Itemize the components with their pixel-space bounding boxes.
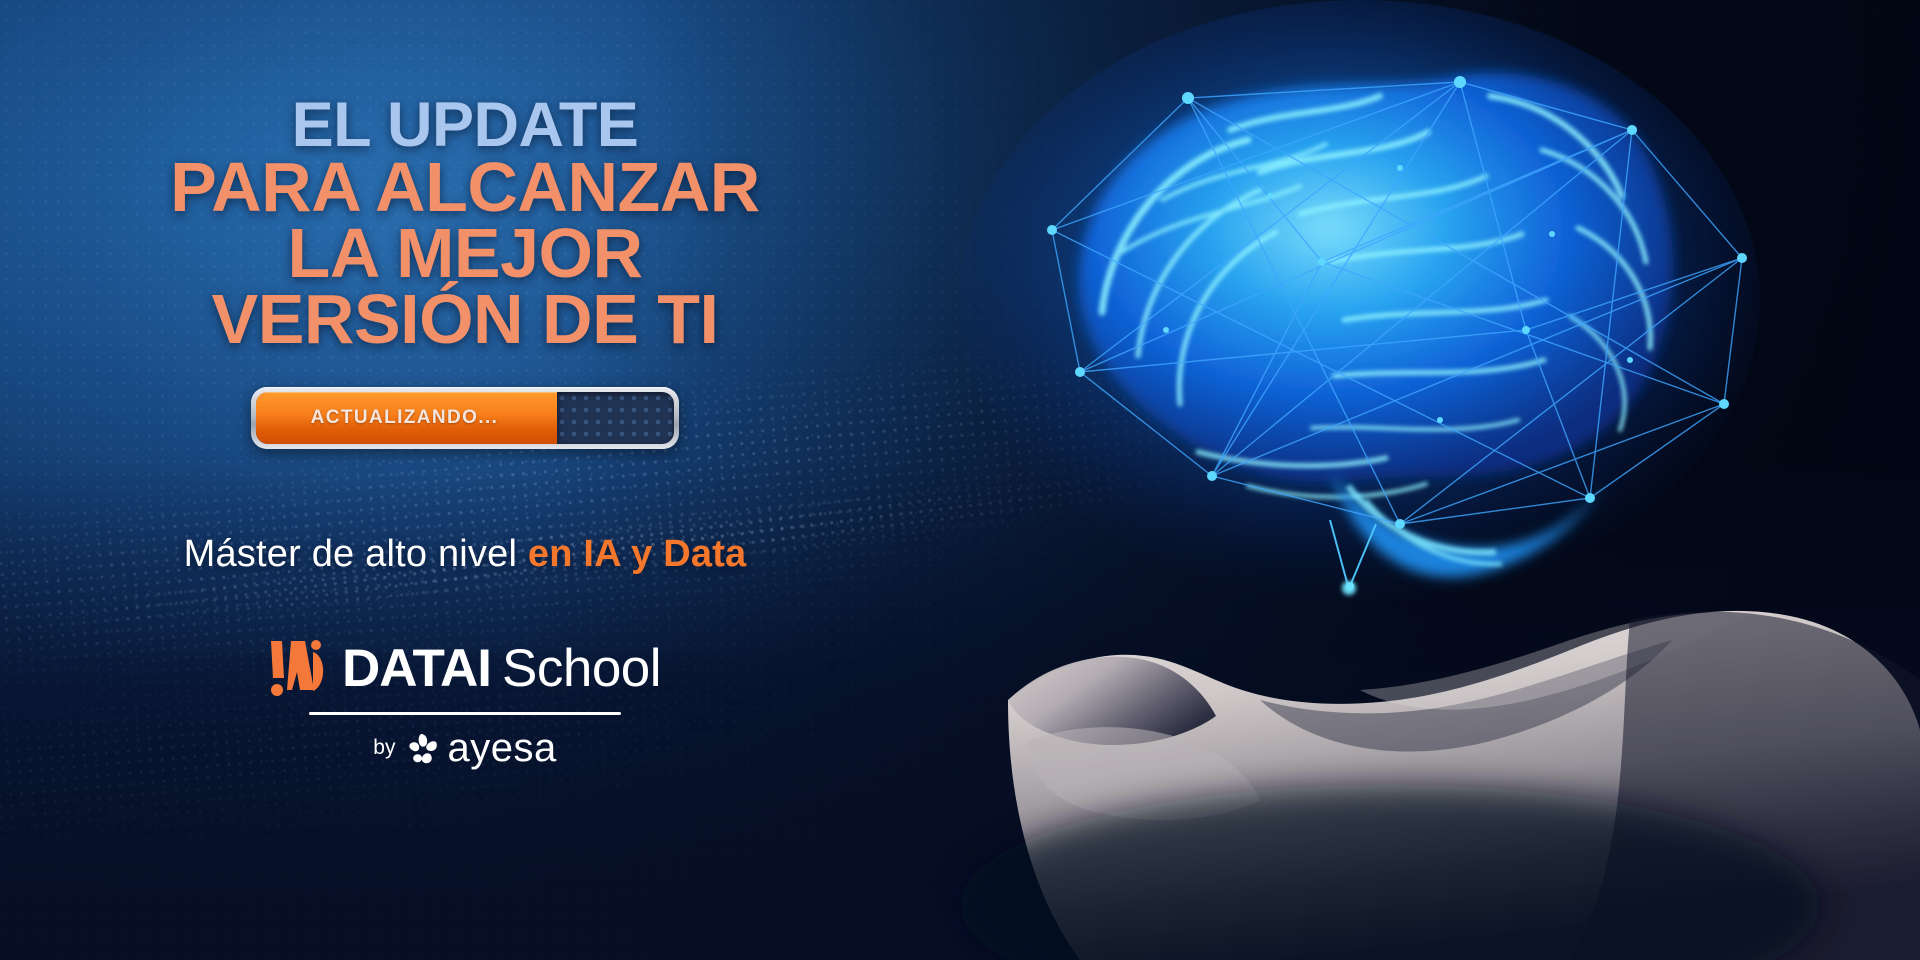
- page-title: EL UPDATE PARA ALCANZAR LA MEJOR VERSIÓN…: [170, 96, 760, 353]
- brand-row: DATAI School: [269, 638, 661, 699]
- progress-bar[interactable]: ACTUALIZANDO...: [251, 387, 679, 449]
- partner-row: by ayesa: [373, 726, 556, 771]
- progress-track: ACTUALIZANDO...: [256, 392, 674, 444]
- ayesa-petal-icon: [406, 731, 440, 765]
- progress-label: ACTUALIZANDO...: [311, 407, 503, 429]
- headline-line-1: EL UPDATE: [170, 96, 760, 155]
- datai-a-mark-icon: [269, 638, 325, 698]
- headline-line-2: PARA ALCANZAR: [170, 155, 760, 221]
- brand-divider: [309, 712, 621, 715]
- left-content-column: EL UPDATE PARA ALCANZAR LA MEJOR VERSIÓN…: [0, 0, 930, 960]
- brain-on-hand-artwork: [930, 0, 1920, 960]
- progress-fill: ACTUALIZANDO...: [256, 392, 557, 444]
- promo-banner: EL UPDATE PARA ALCANZAR LA MEJOR VERSIÓN…: [0, 0, 1920, 960]
- by-label: by: [373, 736, 395, 760]
- brand-name-light: School: [502, 638, 661, 699]
- subtitle-accent: en IA y Data: [528, 533, 747, 575]
- subtitle: Máster de alto nivel en IA y Data: [184, 533, 747, 576]
- brand-wordmark: DATAI School: [342, 638, 661, 699]
- brand-lockup: DATAI School by ayesa: [269, 638, 661, 771]
- ayesa-wordmark: ayesa: [447, 726, 556, 771]
- headline-line-4: VERSIÓN DE TI: [170, 287, 760, 353]
- ayesa-logo: ayesa: [406, 726, 556, 771]
- headline-line-3: LA MEJOR: [170, 221, 760, 287]
- subtitle-plain: Máster de alto nivel: [184, 533, 528, 575]
- brand-name-bold: DATAI: [342, 638, 491, 699]
